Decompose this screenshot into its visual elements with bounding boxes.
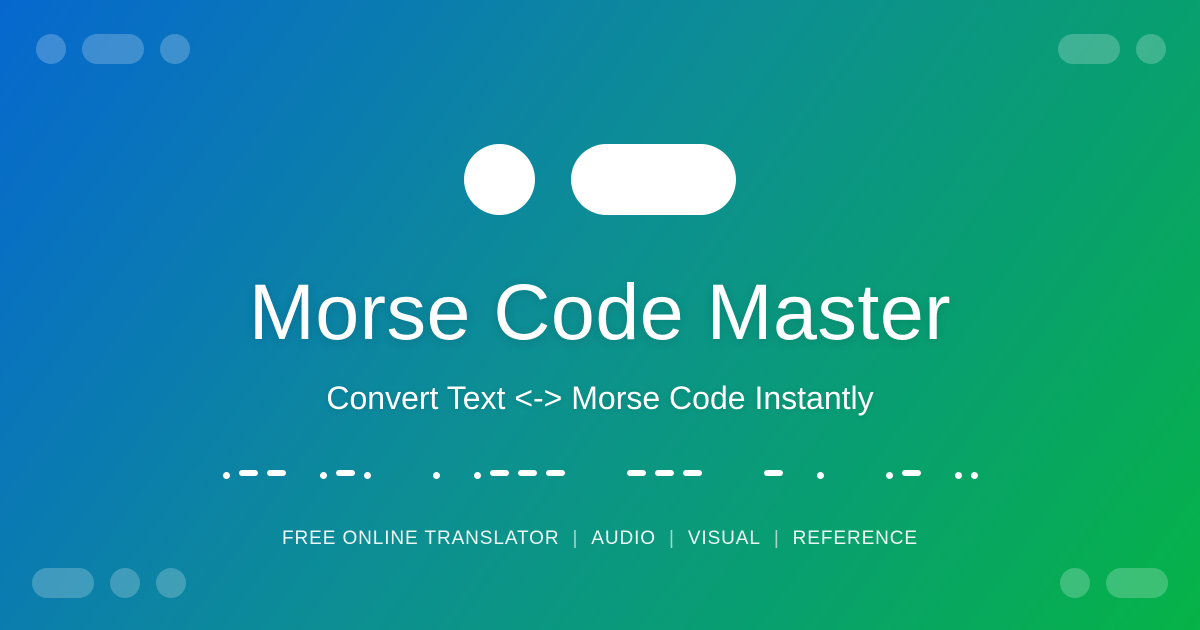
morse-letter [223, 466, 286, 479]
morse-dash-icon [336, 470, 355, 476]
morse-code-strip [0, 466, 1200, 479]
corner-decoration-top-left [36, 34, 190, 64]
morse-dot-icon [320, 472, 327, 479]
og-card-canvas: Morse Code Master Convert Text <-> Morse… [0, 0, 1200, 630]
morse-dot-icon [817, 472, 824, 479]
morse-letter [320, 466, 371, 479]
footer-tag: REFERENCE [793, 528, 918, 550]
hero-text-block: Morse Code Master Convert Text <-> Morse… [0, 272, 1200, 416]
morse-word [223, 466, 371, 479]
morse-dash-icon [627, 470, 646, 476]
morse-dot-icon [364, 472, 371, 479]
decorative-dot-icon [156, 568, 186, 598]
morse-dash-icon [902, 470, 921, 476]
morse-letter [627, 470, 702, 476]
corner-decoration-bottom-right [1060, 568, 1168, 598]
morse-word [764, 466, 824, 479]
decorative-dash-icon [1058, 34, 1120, 64]
morse-dot-icon [886, 472, 893, 479]
morse-dot-icon [433, 472, 440, 479]
page-title: Morse Code Master [0, 272, 1200, 351]
morse-dash-icon [239, 470, 258, 476]
decorative-dot-icon [160, 34, 190, 64]
decorative-dash-icon [32, 568, 94, 598]
logo-dash-icon [571, 144, 736, 215]
morse-dash-icon [655, 470, 674, 476]
footer-tag-separator: | [669, 528, 675, 550]
morse-word [886, 466, 978, 479]
footer-tag: VISUAL [688, 528, 761, 550]
morse-dash-icon [518, 470, 537, 476]
decorative-dot-icon [110, 568, 140, 598]
decorative-dash-icon [82, 34, 144, 64]
morse-dot-icon [971, 472, 978, 479]
logo-mark [0, 144, 1200, 215]
footer-tag-separator: | [572, 528, 578, 550]
morse-letter [764, 470, 783, 476]
footer-tag: AUDIO [591, 528, 656, 550]
morse-dash-icon [490, 470, 509, 476]
morse-letter [817, 466, 824, 479]
logo-dot-icon [464, 144, 535, 215]
decorative-dash-icon [1106, 568, 1168, 598]
decorative-dot-icon [1136, 34, 1166, 64]
footer-tag-list: FREE ONLINE TRANSLATOR|AUDIO|VISUAL|REFE… [0, 528, 1200, 550]
morse-word [433, 466, 565, 479]
morse-letter [955, 466, 978, 479]
decorative-dot-icon [1060, 568, 1090, 598]
corner-decoration-top-right [1058, 34, 1166, 64]
footer-tag-separator: | [774, 528, 780, 550]
page-subtitle: Convert Text <-> Morse Code Instantly [0, 381, 1200, 416]
morse-dash-icon [267, 470, 286, 476]
corner-decoration-bottom-left [32, 568, 186, 598]
footer-tag: FREE ONLINE TRANSLATOR [282, 528, 559, 550]
morse-dash-icon [764, 470, 783, 476]
decorative-dot-icon [36, 34, 66, 64]
morse-dot-icon [474, 472, 481, 479]
morse-letter [474, 466, 565, 479]
morse-dash-icon [546, 470, 565, 476]
morse-letter [886, 466, 921, 479]
morse-dash-icon [683, 470, 702, 476]
morse-dot-icon [955, 472, 962, 479]
morse-letter [433, 466, 440, 479]
morse-dot-icon [223, 472, 230, 479]
morse-word [627, 470, 702, 476]
